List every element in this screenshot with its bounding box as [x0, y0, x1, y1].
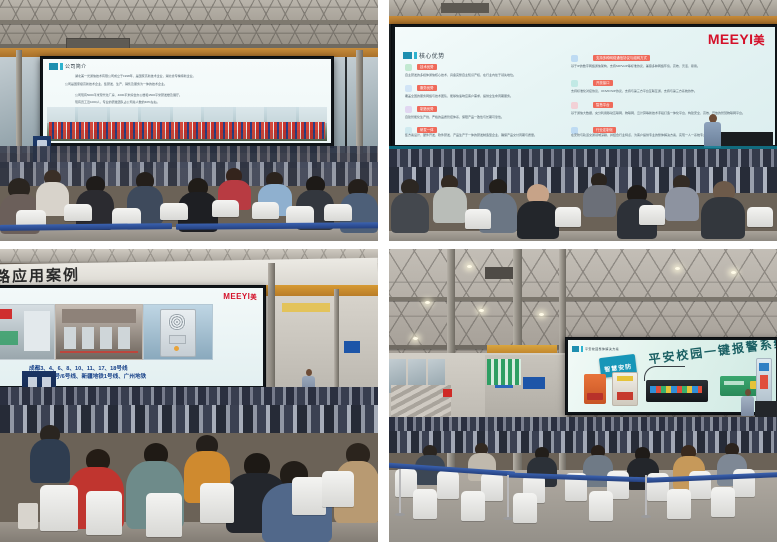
audience-row-mid [389, 431, 777, 453]
ceiling-lamp-icon [539, 313, 544, 316]
gutter-vertical [378, 0, 389, 542]
audience-crowd [389, 149, 777, 241]
product-console-microphone [644, 366, 685, 381]
tote-bag [18, 503, 38, 529]
audience-body [391, 193, 429, 233]
slide-company-introduction: 公司简介 湖北美一光通信技术有限公司成立于1998年，是国家高新技术企业，湖北省… [43, 59, 331, 143]
slide-header-bar-icon [414, 52, 417, 59]
advantage-body: 自主研发的多媒体通信核心技术，具备完整自主知识产权，在行业内处于领先地位。 [405, 73, 555, 78]
slide-paragraph: 公司现有5000平米现代化厂房、4000平米综合办公楼和1500平米研发楼及展厅… [75, 93, 311, 98]
case-photo-2: 地铁进站闸机通道 [55, 304, 143, 360]
folding-chair [413, 489, 437, 519]
folding-chair [40, 485, 78, 531]
rope-stanchion [507, 475, 509, 519]
ceiling-lamp-icon [675, 267, 680, 270]
meeyi-logo: MEEYI美 [223, 292, 257, 301]
rope-stanchion [399, 469, 401, 515]
folding-chair [747, 207, 773, 227]
presenter-body [704, 122, 721, 148]
exit-sign-red [443, 389, 452, 397]
advantage-icon-openapi [571, 80, 578, 87]
meeyi-logo-mark: 美 [753, 35, 765, 47]
slide-header-text: 公司简介 [65, 63, 87, 70]
audience-body [701, 197, 745, 239]
meeyi-logo-text: MEEYI [223, 292, 250, 301]
product-name: IP网络广播主机 [568, 340, 569, 341]
wall-band-orange [389, 16, 777, 24]
audience-crowd [389, 417, 777, 542]
ceiling-lamp-icon [467, 265, 472, 268]
ceiling-vent [485, 267, 513, 279]
side-glass-wall [330, 57, 378, 153]
folding-chair [292, 477, 326, 515]
booth-sign-yellow [282, 303, 330, 312]
booth-sign-blue [344, 341, 360, 353]
stage-table [755, 401, 777, 417]
hall-column [16, 50, 22, 154]
slide-header: 核心优势 [403, 51, 445, 60]
rope-stanchion-base [503, 517, 513, 520]
folding-chair [322, 471, 354, 507]
slide-group-photo: 全体员工合影 [47, 107, 327, 141]
audience-body [30, 439, 70, 483]
rope-stanchion [645, 475, 647, 517]
photo-panel-top-right[interactable]: LED screen displaying a two-column 'Core… [389, 0, 777, 241]
case-photo-1: 地铁站台闸机区域 [0, 304, 55, 360]
advantage-body: 基于通信大数据，充分利用移动互联网、物联网、云计算等新技术手段打造一体化平台，构… [571, 111, 769, 116]
presenter-head [306, 369, 312, 376]
slide-paragraph: 现有员工近1000人，专业的研发团队占公司总人数的40%左右。 [75, 100, 311, 105]
folding-chair [64, 204, 92, 221]
product-video-intercom [756, 358, 772, 402]
audience-body [517, 201, 559, 239]
speaker-grille-icon [168, 314, 186, 330]
rope-stanchion-base [395, 513, 405, 516]
product-name: 紧急求助终端 [568, 340, 569, 341]
audience-body [433, 187, 467, 223]
advantage-icon-protocol [571, 55, 578, 62]
advantage-icon-platform [571, 102, 578, 109]
ceiling-lamp-icon [479, 309, 484, 312]
banner-title: 铁路应用案例 [0, 264, 80, 287]
product-alarm-pillar [584, 374, 606, 404]
folding-chair [461, 491, 485, 521]
presenter-body [741, 396, 754, 416]
slide-caption: 成都3、4、6、8、10、11、17、18号线 沈阳地铁3号/6号线、新疆地铁1… [29, 365, 229, 381]
advantage-tag: 服务优势 [417, 85, 437, 91]
product-emergency-terminal [612, 372, 638, 406]
photo-collage: Wide LED screen showing a company introd… [0, 0, 777, 542]
rope-stanchion-base [641, 515, 651, 518]
slide-header-text: 核心优势 [419, 51, 445, 60]
booth-graphic-green [487, 359, 521, 385]
led-screen: 公司简介 湖北美一光通信技术有限公司成立于1998年，是国家高新技术企业，湖北省… [40, 56, 334, 148]
ceiling-beam [0, 20, 378, 24]
hall-column [356, 50, 363, 154]
product-name: 一键报警立柱 [568, 340, 569, 341]
slide-paragraph: 湖北美一光通信技术有限公司成立于1998年，是国家高新技术企业，湖北省专精特新企… [75, 74, 307, 79]
advantage-tag: 开放接口 [593, 80, 613, 86]
ceiling-lamp-icon [425, 301, 430, 304]
folding-chair [465, 209, 491, 229]
meeyi-logo: MEEYI美 [708, 31, 765, 48]
folding-chair [639, 205, 665, 225]
advantage-tag: 技术优势 [417, 64, 437, 70]
advantage-tag: 智慧平台 [593, 102, 613, 108]
advantage-icon-service [405, 85, 412, 92]
wall-band-orange [258, 285, 378, 296]
advantage-tag: 支持多种网络通信协议与组网方式 [593, 55, 650, 61]
folding-chair [200, 483, 234, 523]
folding-chair [513, 493, 537, 523]
folding-chair [252, 202, 279, 219]
advantage-body: 集方案设计、硬件开发、软件研发、产品生产于一体的研发制造型企业，确保产品交付周期… [405, 133, 555, 138]
photo-panel-top-left[interactable]: Wide LED screen showing a company introd… [0, 0, 378, 241]
ceiling-lamp-icon [413, 337, 418, 340]
folding-chair [555, 207, 581, 227]
audience-crowd [0, 387, 378, 542]
folding-chair [711, 487, 735, 517]
photo-panel-bottom-right[interactable]: Wide view of the exhibition hall with a … [389, 249, 777, 542]
meeyi-logo-mark: 美 [250, 294, 257, 301]
slide-header-square-icon [49, 63, 58, 70]
gutter-horizontal [0, 241, 777, 249]
hall-column [268, 263, 275, 391]
hall-column [334, 289, 339, 389]
slide-paragraph: 公司是国家级高新技术企业，集研发、生产、销售及服务为一体的技术企业。 [65, 82, 315, 87]
meeyi-logo-text: MEEYI [708, 31, 754, 47]
slide-subheader-text: 平安校园整体解决方案 [585, 347, 619, 351]
advantage-body: 基于IP的数字网络通信架构，支持SIP/VoIP等标准协议，兼容多种网络环境，高… [571, 64, 769, 69]
slide-header-square-icon [572, 346, 579, 352]
caption-line: 沈阳地铁3号/6号线、新疆地铁1号线、广州地铁 [29, 373, 229, 381]
case-photo-3: 地铁紧急求助对讲终端 [143, 304, 213, 360]
folding-chair [212, 200, 239, 217]
advantage-body: 支持标准化对接协议，ONVIF/SIP协议，支持与第三方平台互联互通，支持与第三… [571, 89, 769, 94]
group-photo-people-row [49, 130, 325, 139]
presenter-head [745, 389, 751, 396]
folding-chair [286, 206, 314, 224]
folding-chair [589, 491, 613, 521]
advantage-tag: 制造优势 [417, 106, 437, 112]
folding-chair [667, 489, 691, 519]
slide-subheader: 平安校园整体解决方案 [572, 346, 619, 352]
folding-chair [324, 204, 352, 221]
audience-crowd [0, 146, 378, 241]
audience-body [665, 187, 699, 221]
advantage-icon-manufacturing [405, 106, 412, 113]
advantage-body: 覆盖全国的服务网络与技术团队，能够快速响应客户需求，提供全生命周期服务。 [405, 94, 555, 99]
advantage-icon-technology [405, 64, 412, 71]
advantage-body: 自建智能化生产线，严格的品质管控体系，保障产品一致性与长期可靠性。 [405, 115, 555, 120]
slide-header-bar-icon [581, 346, 583, 352]
slide-header-bar-icon [60, 63, 63, 70]
audience-body [583, 185, 616, 217]
photo-panel-bottom-left[interactable]: Large LED screen titled '铁路应用案例' showing… [0, 249, 378, 542]
caption-line: 成都3、4、6、8、10、11、17、18号线 [29, 365, 229, 373]
folding-chair [160, 203, 188, 220]
folding-chair [437, 471, 459, 499]
booth-sign-blue [523, 377, 545, 389]
wall-vent-box [441, 3, 489, 13]
folding-chair [146, 493, 182, 537]
product-name: 可视对讲终端 [568, 340, 569, 341]
folding-chair [86, 491, 122, 535]
slide-header: 公司简介 [49, 63, 87, 70]
product-paging-console [646, 380, 708, 402]
ceiling-lamp-icon [731, 271, 736, 274]
slide-header-square-icon [403, 52, 412, 59]
